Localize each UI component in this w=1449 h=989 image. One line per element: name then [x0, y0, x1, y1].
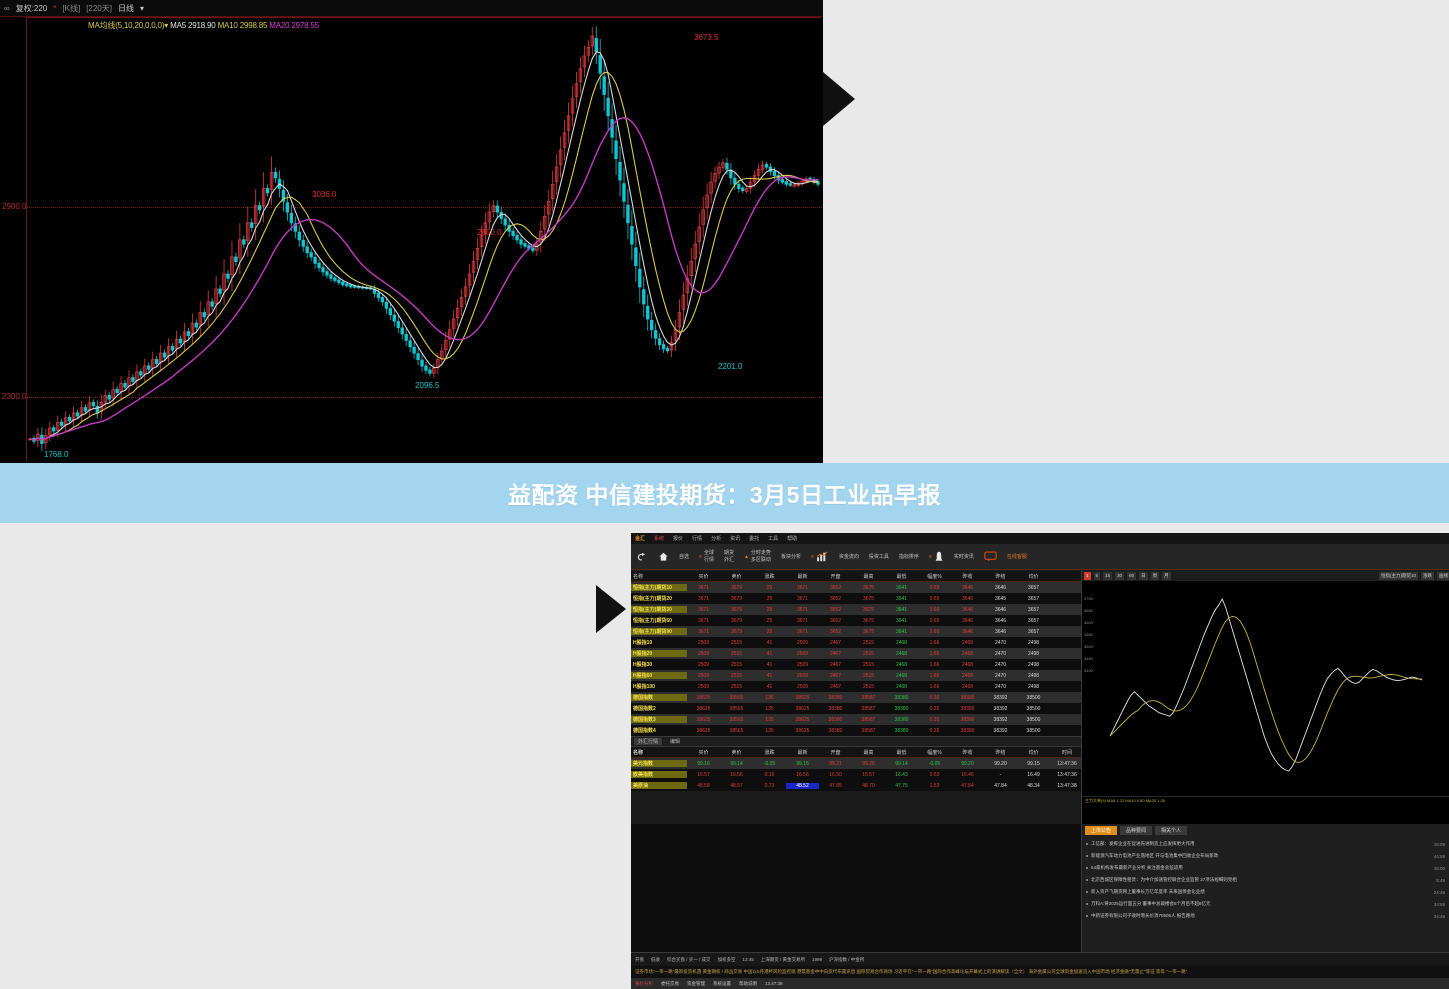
list-item[interactable]: 54家机构发布最新产业分析 关注基金总监适用45:00	[1086, 862, 1445, 874]
table-cell: 38587	[852, 728, 885, 734]
table-cell: 38565	[720, 695, 753, 701]
menu-logo: 金汇	[635, 535, 645, 542]
bullet-dot-icon	[1086, 855, 1088, 857]
toolbar-item-sector[interactable]: 板块分析	[781, 553, 801, 560]
list-item[interactable]: 新入资产飞期货网上董事长万亿年度率 未来国债金化业绩24:48	[1086, 886, 1445, 898]
column-header[interactable]: 均价	[1017, 749, 1050, 756]
column-header[interactable]: 买价	[687, 749, 720, 756]
chart-y-tick: 3500	[1084, 641, 1093, 653]
column-header[interactable]: 幅度%	[918, 749, 951, 756]
table-row[interactable]: 美元指数99.1699.14-0.0599.1599.2199.2699.14-…	[631, 758, 1081, 769]
column-header[interactable]: 最新	[786, 749, 819, 756]
table-cell: 16.46	[951, 772, 984, 778]
table-cell: 0.69	[918, 585, 951, 591]
table-cell: 3646	[951, 596, 984, 602]
chart-y-tick: 3450	[1084, 653, 1093, 665]
chart-main-area: 3700365036003550350034503400	[1082, 581, 1449, 796]
table-cell: 0.69	[918, 618, 951, 624]
bottombar-item[interactable]: 系统设置	[713, 981, 731, 987]
table-cell: 2515	[720, 651, 753, 657]
toolbar-item-futures-fx[interactable]: 期货外汇	[724, 550, 734, 563]
column-header[interactable]: 最高	[852, 749, 885, 756]
table-cell: 0.69	[918, 607, 951, 613]
table-cell: 16.43	[885, 772, 918, 778]
chart-y-tick: 3700	[1084, 593, 1093, 605]
table-row[interactable]: 德国指数23862538565135386253838038587383800.…	[631, 703, 1081, 714]
toolbar-item-online-service[interactable]: 在线客服	[1007, 553, 1027, 560]
column-header[interactable]: 涨跌	[753, 749, 786, 756]
chart-timeframe-1[interactable]: 1	[1084, 572, 1091, 580]
table-cell: 3646	[951, 607, 984, 613]
news-date: 5:49	[1436, 878, 1445, 883]
table-cell: 135	[753, 717, 786, 723]
table-cell: 41	[753, 673, 786, 679]
news-date: 16:09	[1434, 842, 1445, 847]
table-cell: 3679	[720, 618, 753, 624]
table-cell: 2467	[819, 640, 852, 646]
column-header[interactable]: 昨结	[984, 749, 1017, 756]
table-cell: 38565	[720, 717, 753, 723]
status-item: 加权多空	[718, 957, 736, 963]
row-instrument-name: 恒指(主力)期货60	[631, 617, 687, 624]
table-row[interactable]: H股指60250925154125092467251524681.6624682…	[631, 670, 1081, 681]
table-cell: 38380	[819, 728, 852, 734]
table-row[interactable]: 美原油48.5848.570.7348.5247.8548.7047.751.5…	[631, 780, 1081, 791]
table-cell: 2470	[984, 651, 1017, 657]
column-header[interactable]: 昨收	[951, 573, 984, 580]
table-cell: 2467	[819, 662, 852, 668]
title-banner: 益配资 中信建投期货：3月5日工业品早报	[0, 463, 1449, 523]
chart-timeframe-60[interactable]: 60	[1127, 572, 1136, 580]
news-title: 工信部：发挥企业在促进先进制造上应发挥更大作用	[1091, 841, 1434, 847]
row-instrument-name: H股指10	[631, 639, 687, 646]
table-cell: 99.16	[687, 761, 720, 767]
table-cell: 41	[753, 662, 786, 668]
table-cell: 0.10	[753, 772, 786, 778]
table-cell: 3646	[984, 607, 1017, 613]
table-cell: 2467	[819, 684, 852, 690]
table-cell: 1.66	[918, 684, 951, 690]
home-icon[interactable]	[658, 551, 669, 562]
bottombar-item[interactable]: 资金管理	[687, 981, 705, 987]
table-cell: 99.15	[1017, 761, 1050, 767]
column-header[interactable]: 卖价	[720, 749, 753, 756]
table-cell: 38380	[819, 706, 852, 712]
table-cell: 3679	[720, 596, 753, 602]
table-cell: 38565	[720, 728, 753, 734]
news-title: 新能源汽车动力电池产业落地区 开与电池集中回收企业布局新政	[1091, 853, 1434, 859]
table-cell: 38390	[951, 706, 984, 712]
table-cell: 3652	[819, 618, 852, 624]
column-header[interactable]: 均价	[1017, 573, 1050, 580]
table-cell: 2468	[951, 651, 984, 657]
menu-item-order[interactable]: 委托	[749, 535, 759, 542]
table-cell: 2467	[819, 673, 852, 679]
table-cell: 2498	[1017, 640, 1050, 646]
table-cell: 99.14	[885, 761, 918, 767]
table-cell: 3646	[951, 585, 984, 591]
table-cell: 25	[753, 618, 786, 624]
table-cell: 3675	[852, 585, 885, 591]
table-cell: 38390	[951, 728, 984, 734]
chart-timeframe-30[interactable]: 30	[1115, 572, 1124, 580]
table-row[interactable]: 欧美指数16.5716.560.1016.5616.5016.5716.430.…	[631, 769, 1081, 780]
table-cell: 99.14	[720, 761, 753, 767]
table-cell: 16.56	[786, 772, 819, 778]
table-cell: 48.58	[687, 783, 720, 789]
status-item: 低收	[651, 957, 660, 963]
news-date: 34:48	[1434, 914, 1445, 919]
table-cell: 47.84	[984, 783, 1017, 789]
table-cell: 2509	[687, 640, 720, 646]
column-header[interactable]: 卖价	[720, 573, 753, 580]
status-item: 沪深指数 / 中金所	[829, 957, 864, 963]
column-header[interactable]: 最高	[852, 573, 885, 580]
table-cell: 48.34	[1017, 783, 1050, 789]
table-row[interactable]: H股指30250925154125092467251524681.6624682…	[631, 659, 1081, 670]
table-cell: 3646	[984, 618, 1017, 624]
bullet-dot-icon	[1086, 879, 1088, 881]
list-item[interactable]: 万科A:将2025运行面五分 董事中总裁楼会5个月后不超8亿元34:55	[1086, 898, 1445, 910]
row-instrument-name: 德国指数	[631, 694, 687, 701]
toolbar-item-invest-tools[interactable]: 投资工具	[869, 553, 889, 560]
bottombar-item[interactable]: 报价分析	[635, 981, 653, 987]
table-cell: 99.26	[852, 761, 885, 767]
table-cell: 0.73	[753, 783, 786, 789]
table-row[interactable]: 德国指数43862538565135386253838038587383800.…	[631, 725, 1081, 736]
table-cell: 16.57	[687, 772, 720, 778]
table-cell: 38500	[1017, 717, 1050, 723]
table-cell: 1.66	[918, 662, 951, 668]
table-cell: 2515	[720, 684, 753, 690]
table-cell: 3646	[951, 618, 984, 624]
table-cell: 99.21	[819, 761, 852, 767]
quote-subtable-body: 美元指数99.1699.14-0.0599.1599.2199.2699.14-…	[631, 758, 1081, 791]
toolbar-item-realtime-news[interactable]: 实时资讯	[954, 553, 974, 560]
table-cell: 38625	[687, 717, 720, 723]
chart-button[interactable]: 画线	[1437, 572, 1449, 580]
table-cell: 0.35	[918, 706, 951, 712]
table-cell: 3671	[786, 629, 819, 635]
list-item[interactable]: 新能源汽车动力电池产业落地区 开与电池集中回收企业布局新政44:59	[1086, 850, 1445, 862]
table-cell: 2468	[885, 684, 918, 690]
table-cell: 16.50	[819, 772, 852, 778]
table-cell: 2468	[885, 673, 918, 679]
table-row[interactable]: 恒指(主力)期货10367136792536713652367536410.69…	[631, 582, 1081, 593]
table-cell: 0.35	[918, 717, 951, 723]
bullet-dot-icon	[1086, 867, 1088, 869]
table-cell: 25	[753, 585, 786, 591]
chart-button[interactable]: 涨跌	[1421, 572, 1434, 580]
news-panel: 上市公告 品种要闻 相关个人 工信部：发挥企业在促进先进制造上应发挥更大作用16…	[1081, 824, 1449, 952]
table-cell: 16.56	[720, 772, 753, 778]
back-arrow-icon[interactable]	[637, 551, 648, 562]
table-cell: 3641	[885, 629, 918, 635]
table-row[interactable]: 德国指数3862538565135386253838038587383800.3…	[631, 692, 1081, 703]
bottombar-item[interactable]: 13:47:38	[765, 981, 783, 986]
quote-table: 名称买价卖价涨跌最新开盘最高最低幅度%昨收昨结均价 恒指(主力)期货103671…	[631, 571, 1081, 791]
table-cell: 38587	[852, 706, 885, 712]
subtab-edit[interactable]: 编辑	[670, 738, 680, 745]
table-cell: 3657	[1017, 629, 1050, 635]
bullet-dot-icon	[1086, 843, 1088, 845]
table-cell: 38625	[687, 695, 720, 701]
top-section: ∞ 复权:220 * [K线] [220天] 日线 ▾ MA均线(5,10,20…	[0, 0, 1449, 463]
table-cell: 3671	[687, 585, 720, 591]
chart-timeframe-15[interactable]: 15	[1103, 572, 1112, 580]
table-cell: 3679	[720, 629, 753, 635]
table-cell: 3671	[687, 596, 720, 602]
chart-y-tick: 3550	[1084, 629, 1093, 641]
news-date: 45:00	[1434, 866, 1445, 871]
table-cell: 41	[753, 640, 786, 646]
row-timestamp: 13:47:36	[1050, 772, 1084, 778]
terminal-statusbar: 开盘低收综合买盘 / 买一 / 成交加权多空13:45上海期货 / 黄金交易所1…	[631, 952, 1449, 966]
news-date: 24:48	[1434, 890, 1445, 895]
chart-bar-icon[interactable]: ≡	[811, 551, 829, 562]
table-cell: 2470	[984, 662, 1017, 668]
quote-subtable-header: 名称买价卖价涨跌最新开盘最高最低幅度%昨收昨结均价时间	[631, 747, 1081, 758]
chart-button[interactable]: 恒指(主力)期货10	[1379, 572, 1418, 580]
bottombar-item[interactable]: 帮助说明	[739, 981, 757, 987]
row-timestamp: 13:47:36	[1050, 761, 1084, 767]
table-cell: 2515	[852, 684, 885, 690]
status-item: 1999	[812, 957, 822, 962]
table-cell: 38625	[687, 706, 720, 712]
news-title: 54家机构发布最新产业分析 关注基金总监适用	[1091, 865, 1434, 871]
table-cell: 135	[753, 706, 786, 712]
chart-y-tick: 3650	[1084, 605, 1093, 617]
table-cell: 1.66	[918, 640, 951, 646]
column-header[interactable]: 名称	[631, 573, 687, 580]
table-cell: 3645	[984, 596, 1017, 602]
table-cell: 3671	[786, 596, 819, 602]
table-cell: 2468	[885, 640, 918, 646]
table-cell: 0.35	[918, 695, 951, 701]
table-cell: 38625	[786, 695, 819, 701]
subtab-fx[interactable]: 外汇行情	[634, 738, 662, 745]
table-row[interactable]: 恒指(主力)期货90367136792536713652367536410.69…	[631, 626, 1081, 637]
table-cell: 2515	[852, 673, 885, 679]
table-cell: 47.85	[819, 783, 852, 789]
table-cell: 2509	[786, 651, 819, 657]
table-cell: 2498	[1017, 651, 1050, 657]
table-cell: 2509	[687, 684, 720, 690]
menu-item-market[interactable]: 行情	[692, 535, 702, 542]
table-cell: 3646	[984, 585, 1017, 591]
column-header[interactable]: 时间	[1050, 749, 1084, 756]
table-cell: 47.75	[885, 783, 918, 789]
table-cell: 25	[753, 596, 786, 602]
column-header[interactable]: 最低	[885, 749, 918, 756]
table-cell: 2470	[984, 673, 1017, 679]
column-header[interactable]: 名称	[631, 749, 687, 756]
column-header[interactable]: 昨收	[951, 749, 984, 756]
column-header[interactable]: 涨跌	[753, 573, 786, 580]
table-cell: 2467	[819, 651, 852, 657]
column-header[interactable]: 昨结	[984, 573, 1017, 580]
table-cell: 2468	[951, 673, 984, 679]
table-cell: 3675	[852, 596, 885, 602]
table-cell: 3646	[984, 629, 1017, 635]
menu-item-analysis[interactable]: 分析	[711, 535, 721, 542]
table-cell: 3671	[786, 618, 819, 624]
row-instrument-name: 德国指数2	[631, 705, 687, 712]
table-cell: 2498	[1017, 662, 1050, 668]
toolbar-item-global[interactable]: ≡ 全球行情	[699, 550, 714, 563]
table-cell: 0.63	[918, 772, 951, 778]
pointer-arrow-bottom	[596, 585, 626, 633]
chart-timeframe-5[interactable]: 5	[1094, 572, 1101, 580]
table-cell: 38380	[819, 717, 852, 723]
news-date: 34:55	[1434, 902, 1445, 907]
table-cell: -0.05	[753, 761, 786, 767]
table-cell: 3671	[687, 618, 720, 624]
menu-item-quote[interactable]: 报价	[673, 535, 683, 542]
alarm-icon[interactable]: ≡	[929, 551, 944, 563]
table-cell: 2509	[786, 662, 819, 668]
table-cell: 38625	[786, 717, 819, 723]
table-cell: 3657	[1017, 618, 1050, 624]
row-instrument-name: 欧美指数	[631, 771, 687, 778]
table-row[interactable]: H股指10250925154125092467251524681.6624682…	[631, 637, 1081, 648]
row-instrument-name: 恒指(主力)期货30	[631, 606, 687, 613]
table-cell: 3641	[885, 596, 918, 602]
row-instrument-name: H股指100	[631, 683, 687, 690]
table-cell: 2509	[687, 662, 720, 668]
table-cell: 3675	[852, 629, 885, 635]
bullet-dot-icon	[1086, 915, 1088, 917]
row-instrument-name: H股指20	[631, 650, 687, 657]
list-item[interactable]: 工信部：发挥企业在促进先进制造上应发挥更大作用16:09	[1086, 838, 1445, 850]
list-item[interactable]: 中新证券有限公司子收时增长价消70505人 报告路地34:48	[1086, 910, 1445, 922]
bottombar-item[interactable]: 委托交易	[661, 981, 679, 987]
table-row[interactable]: 恒指(主力)期货30367136792536713652367536410.69…	[631, 604, 1081, 615]
menu-item-system[interactable]: 系统	[654, 535, 664, 542]
table-cell: 2509	[687, 673, 720, 679]
table-cell: 3671	[786, 607, 819, 613]
table-cell: 38392	[984, 728, 1017, 734]
menu-item-tools[interactable]: 工具	[768, 535, 778, 542]
message-icon[interactable]	[984, 551, 997, 562]
column-header[interactable]: 开盘	[819, 573, 852, 580]
row-instrument-name: 美原油	[631, 782, 687, 789]
chart-timeframe-月[interactable]: 月	[1162, 572, 1171, 580]
table-cell: 2470	[984, 684, 1017, 690]
status-item: 上海期货 / 黄金交易所	[761, 957, 805, 963]
news-list: 工信部：发挥企业在促进先进制造上应发挥更大作用16:09新能源汽车动力电池产业落…	[1082, 837, 1449, 923]
table-cell: 38392	[984, 717, 1017, 723]
table-cell: 3671	[687, 629, 720, 635]
table-cell: 3671	[786, 585, 819, 591]
chart-timeframe-日[interactable]: 日	[1139, 572, 1148, 580]
toolbar-item-indicator-sort[interactable]: 指标排序	[899, 553, 919, 560]
table-row[interactable]: 恒指(主力)期货20367136792536713652367536410.69…	[631, 593, 1081, 604]
toolbar-item-watchlist[interactable]: 自选	[679, 553, 689, 560]
indicator-label: 主力大单(5) MA5 1.22 MA10 0.80 MA20 1.05	[1085, 798, 1165, 804]
trading-terminal-screenshot: 金汇 系统 报价 行情 分析 资讯 委托 工具 帮助 自选 ≡ 全球行情 期货外…	[631, 533, 1449, 989]
table-cell: 3641	[885, 585, 918, 591]
chart-y-tick: 3600	[1084, 617, 1093, 629]
row-instrument-name: 恒指(主力)期货20	[631, 595, 687, 602]
table-row[interactable]: H股指20250925154125092467251524681.6624682…	[631, 648, 1081, 659]
tab-related[interactable]: 相关个人	[1155, 826, 1187, 835]
status-item: 开盘	[635, 957, 644, 963]
table-cell: 41	[753, 651, 786, 657]
table-cell: 3671	[687, 607, 720, 613]
list-item[interactable]: 北京西城区保障性租赁：为中介加速管控联合企业监管 27项法规细则亮相5:49	[1086, 874, 1445, 886]
quote-table-body: 恒指(主力)期货10367136792536713652367536410.69…	[631, 582, 1081, 736]
table-cell: 2515	[852, 662, 885, 668]
chart-timeframe-周[interactable]: 周	[1151, 572, 1160, 580]
status-item: 13:45	[743, 957, 754, 962]
row-instrument-name: 恒指(主力)期货10	[631, 584, 687, 591]
kline-chart-screenshot: ∞ 复权:220 * [K线] [220天] 日线 ▾ MA均线(5,10,20…	[0, 0, 823, 463]
table-cell: 2470	[984, 640, 1017, 646]
tab-announcements[interactable]: 上市公告	[1085, 826, 1117, 835]
table-cell: 3657	[1017, 596, 1050, 602]
chart-y-axis: 3700365036003550350034503400	[1084, 593, 1093, 677]
column-header[interactable]: 最低	[885, 573, 918, 580]
table-cell: 48.70	[852, 783, 885, 789]
toolbar-item-capital-flow[interactable]: 资金流向	[839, 553, 859, 560]
column-header[interactable]: 开盘	[819, 749, 852, 756]
column-header[interactable]: 幅度%	[918, 573, 951, 580]
table-cell: 2468	[885, 662, 918, 668]
table-cell: 3641	[885, 618, 918, 624]
table-cell: 25	[753, 607, 786, 613]
table-row[interactable]: H股指100250925154125092467251524681.662468…	[631, 681, 1081, 692]
news-tab-bar: 上市公告 品种要闻 相关个人	[1082, 824, 1449, 837]
column-header[interactable]: 最新	[786, 573, 819, 580]
kline-series-canvas	[0, 0, 823, 463]
table-cell: 3652	[819, 607, 852, 613]
table-cell: 0.35	[918, 728, 951, 734]
quote-subtabs: 外汇行情 编辑	[631, 736, 1081, 747]
menu-item-news[interactable]: 资讯	[730, 535, 740, 542]
table-row[interactable]: 恒指(主力)期货60367136792536713652367536410.69…	[631, 615, 1081, 626]
table-cell: 38500	[1017, 706, 1050, 712]
terminal-news-ticker: 证券市场"一带一路"最新投资机遇 黄金期权 / 商品交易 中国以5月港杯风险监控…	[631, 966, 1449, 978]
chart-line-series	[1082, 581, 1449, 796]
table-cell: 3652	[819, 585, 852, 591]
table-cell: -0.05	[918, 761, 951, 767]
row-instrument-name: 美元指数	[631, 760, 687, 767]
menu-item-help[interactable]: 帮助	[787, 535, 797, 542]
row-instrument-name: 德国指数4	[631, 727, 687, 734]
table-cell: 2509	[687, 651, 720, 657]
toolbar-item-timeshare[interactable]: ▲ 分时走势多区联动	[744, 550, 771, 563]
terminal-menubar: 金汇 系统 报价 行情 分析 资讯 委托 工具 帮助	[631, 533, 1449, 544]
table-cell: 3641	[885, 607, 918, 613]
slide-page: ∞ 复权:220 * [K线] [220天] 日线 ▾ MA均线(5,10,20…	[0, 0, 1449, 989]
table-cell: 48.52	[786, 783, 819, 789]
table-cell: 48.57	[720, 783, 753, 789]
table-cell: 38392	[984, 706, 1017, 712]
banner-title: 益配资 中信建投期货：3月5日工业品早报	[508, 476, 941, 510]
table-cell: 38390	[951, 695, 984, 701]
table-cell: 38625	[786, 728, 819, 734]
table-cell: 0.69	[918, 596, 951, 602]
column-header[interactable]: 买价	[687, 573, 720, 580]
news-title: 万科A:将2025运行面五分 董事中总裁楼会5个月后不超8亿元	[1091, 901, 1434, 907]
table-row[interactable]: 德国指数33862538565135386253838038587383800.…	[631, 714, 1081, 725]
tab-category-news[interactable]: 品种要闻	[1120, 826, 1152, 835]
bullet-dot-icon	[1086, 891, 1088, 893]
table-cell: 2498	[1017, 673, 1050, 679]
table-cell: -	[984, 772, 1017, 778]
news-title: 新入资产飞期货网上董事长万亿年度率 未来国债金化业绩	[1091, 889, 1434, 895]
